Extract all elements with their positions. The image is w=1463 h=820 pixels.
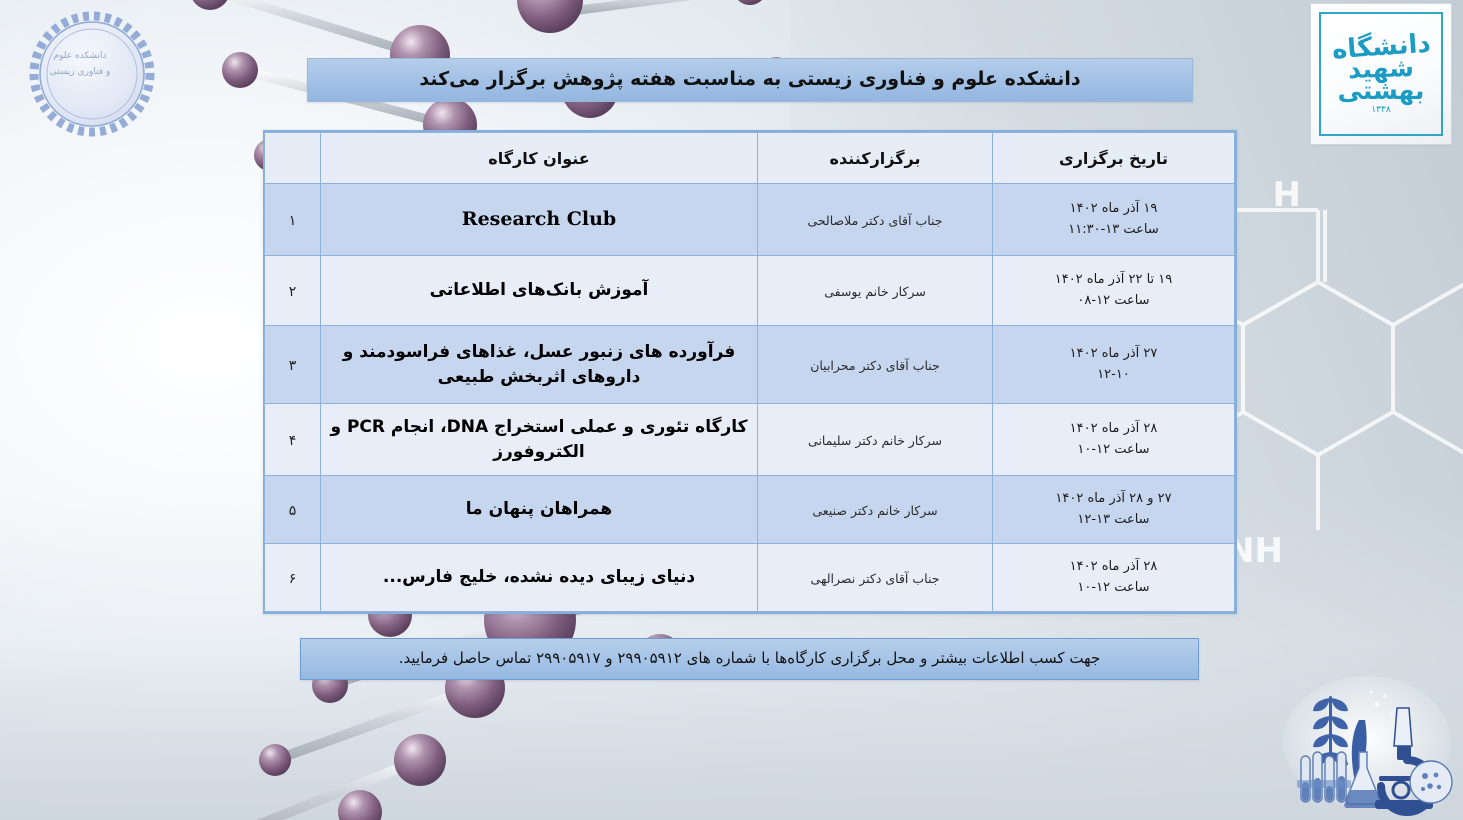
cell-host-text: سرکار خانم یوسفی [824,284,926,299]
cell-date: ۱۹ آذر ماه ۱۴۰۲ساعت ۱۳-۱۱:۳۰ [993,184,1235,256]
cell-title-text: آموزش بانک‌های اطلاعاتی [430,280,649,300]
cell-date-line1: ۲۷ و ۲۸ آذر ماه ۱۴۰۲ [1001,489,1226,509]
cell-date-line1: ۲۷ آذر ماه ۱۴۰۲ [1001,344,1226,364]
faculty-seal-logo [12,10,172,138]
table-row: ۱۹ آذر ماه ۱۴۰۲ساعت ۱۳-۱۱:۳۰جناب آقای دک… [265,184,1235,256]
cell-title-text: کارگاه تئوری و عملی استخراج DNA، انجام P… [330,417,747,462]
cell-date: ۲۸ آذر ماه ۱۴۰۲ساعت ۱۲-۱۰ [993,544,1235,612]
cell-host-text: جناب آقای دکتر نصرالهی [811,571,940,586]
cell-date-line2: ساعت ۱۳-۱۲ [1001,510,1226,530]
table-header-row: تاریخ برگزاری برگزارکننده عنوان کارگاه [265,133,1235,184]
university-logo-line2: شهید [1348,54,1415,81]
cell-title: همراهان پنهان ما [321,476,758,544]
table-row: ۲۷ آذر ماه ۱۴۰۲۱۲-۱۰جناب آقای دکتر محراب… [265,326,1235,404]
cell-date-line1: ۱۹ تا ۲۲ آذر ماه ۱۴۰۲ [1001,270,1226,290]
schedule-table-head: تاریخ برگزاری برگزارکننده عنوان کارگاه [265,133,1235,184]
cell-host: سرکار خانم یوسفی [758,256,993,326]
cell-host: سرکار خانم دکتر صنیعی [758,476,993,544]
schedule-table-container: تاریخ برگزاری برگزارکننده عنوان کارگاه ۱… [263,130,1237,614]
cell-host: جناب آقای دکتر محرابیان [758,326,993,404]
cell-icon [1410,761,1452,803]
cell-title: Research Club [321,184,758,256]
title-banner-text: دانشکده علوم و فناوری زیستی به مناسبت هف… [419,68,1080,92]
cell-row-number: ۶ [265,544,321,612]
cell-row-number-text: ۴ [289,433,297,449]
cell-title-text: فرآورده های زنبور عسل، غذاهای فراسودمند … [343,342,736,387]
cell-row-number: ۵ [265,476,321,544]
cell-date: ۲۸ آذر ماه ۱۴۰۲ساعت ۱۲-۱۰ [993,404,1235,476]
cell-date-line2: ساعت ۱۳-۱۱:۳۰ [1001,220,1226,240]
cell-title-text: دنیای زیبای دیده نشده، خلیج فارس... [383,567,695,587]
poster-canvas: CH 3 H NH [0,0,1463,820]
cell-row-number: ۳ [265,326,321,404]
column-header-number [265,133,321,184]
schedule-table: تاریخ برگزاری برگزارکننده عنوان کارگاه ۱… [264,132,1235,612]
column-header-title: عنوان کارگاه [321,133,758,184]
cell-date: ۲۷ و ۲۸ آذر ماه ۱۴۰۲ساعت ۱۳-۱۲ [993,476,1235,544]
science-illustration [1279,668,1455,818]
footer-contact-banner: جهت کسب اطلاعات بیشتر و محل برگزاری کارگ… [300,638,1199,680]
cell-date-line1: ۱۹ آذر ماه ۱۴۰۲ [1001,199,1226,219]
schedule-table-body: ۱۹ آذر ماه ۱۴۰۲ساعت ۱۳-۱۱:۳۰جناب آقای دک… [265,184,1235,612]
cell-date-line2: ساعت ۱۲-۰۸ [1001,291,1226,311]
table-row: ۲۷ و ۲۸ آذر ماه ۱۴۰۲ساعت ۱۳-۱۲سرکار خانم… [265,476,1235,544]
footer-contact-text: جهت کسب اطلاعات بیشتر و محل برگزاری کارگ… [399,649,1101,669]
table-row: ۱۹ تا ۲۲ آذر ماه ۱۴۰۲ساعت ۱۲-۰۸سرکار خان… [265,256,1235,326]
cell-date-line2: ساعت ۱۲-۱۰ [1001,440,1226,460]
cell-row-number-text: ۵ [289,503,297,519]
cell-title: دنیای زیبای دیده نشده، خلیج فارس... [321,544,758,612]
cell-row-number-text: ۶ [289,571,297,587]
column-header-date: تاریخ برگزاری [993,133,1235,184]
university-logo-year: ۱۳۳۸ [1371,105,1390,115]
cell-host-text: سرکار خانم دکتر سلیمانی [808,433,942,448]
cell-date-line2: ساعت ۱۲-۱۰ [1001,578,1226,598]
cell-title: آموزش بانک‌های اطلاعاتی [321,256,758,326]
university-logo-frame: دانشگاه شهید بهشتی ۱۳۳۸ [1319,12,1443,136]
cell-date-line2: ۱۲-۱۰ [1001,365,1226,385]
cell-row-number-text: ۱ [289,213,297,229]
table-row: ۲۸ آذر ماه ۱۴۰۲ساعت ۱۲-۱۰سرکار خانم دکتر… [265,404,1235,476]
cell-date: ۱۹ تا ۲۲ آذر ماه ۱۴۰۲ساعت ۱۲-۰۸ [993,256,1235,326]
cell-host: جناب آقای دکتر نصرالهی [758,544,993,612]
cell-title-text: Research Club [462,208,616,230]
cell-title-text: همراهان پنهان ما [466,499,612,519]
cell-date: ۲۷ آذر ماه ۱۴۰۲۱۲-۱۰ [993,326,1235,404]
cell-host-text: جناب آقای دکتر ملاصالحی [807,213,942,228]
cell-row-number: ۴ [265,404,321,476]
cell-row-number: ۲ [265,256,321,326]
cell-host-text: جناب آقای دکتر محرابیان [810,358,940,373]
cell-row-number-text: ۲ [289,284,297,300]
title-banner: دانشکده علوم و فناوری زیستی به مناسبت هف… [307,58,1193,102]
cell-row-number: ۱ [265,184,321,256]
table-row: ۲۸ آذر ماه ۱۴۰۲ساعت ۱۲-۱۰جناب آقای دکتر … [265,544,1235,612]
cell-host-text: سرکار خانم دکتر صنیعی [812,503,937,518]
cell-date-line1: ۲۸ آذر ماه ۱۴۰۲ [1001,419,1226,439]
cell-host: سرکار خانم دکتر سلیمانی [758,404,993,476]
cell-title: کارگاه تئوری و عملی استخراج DNA، انجام P… [321,404,758,476]
column-header-host: برگزارکننده [758,133,993,184]
cell-title: فرآورده های زنبور عسل، غذاهای فراسودمند … [321,326,758,404]
cell-date-line1: ۲۸ آذر ماه ۱۴۰۲ [1001,557,1226,577]
cell-row-number-text: ۳ [289,358,297,374]
cell-host: جناب آقای دکتر ملاصالحی [758,184,993,256]
university-logo: دانشگاه شهید بهشتی ۱۳۳۸ [1311,4,1451,144]
